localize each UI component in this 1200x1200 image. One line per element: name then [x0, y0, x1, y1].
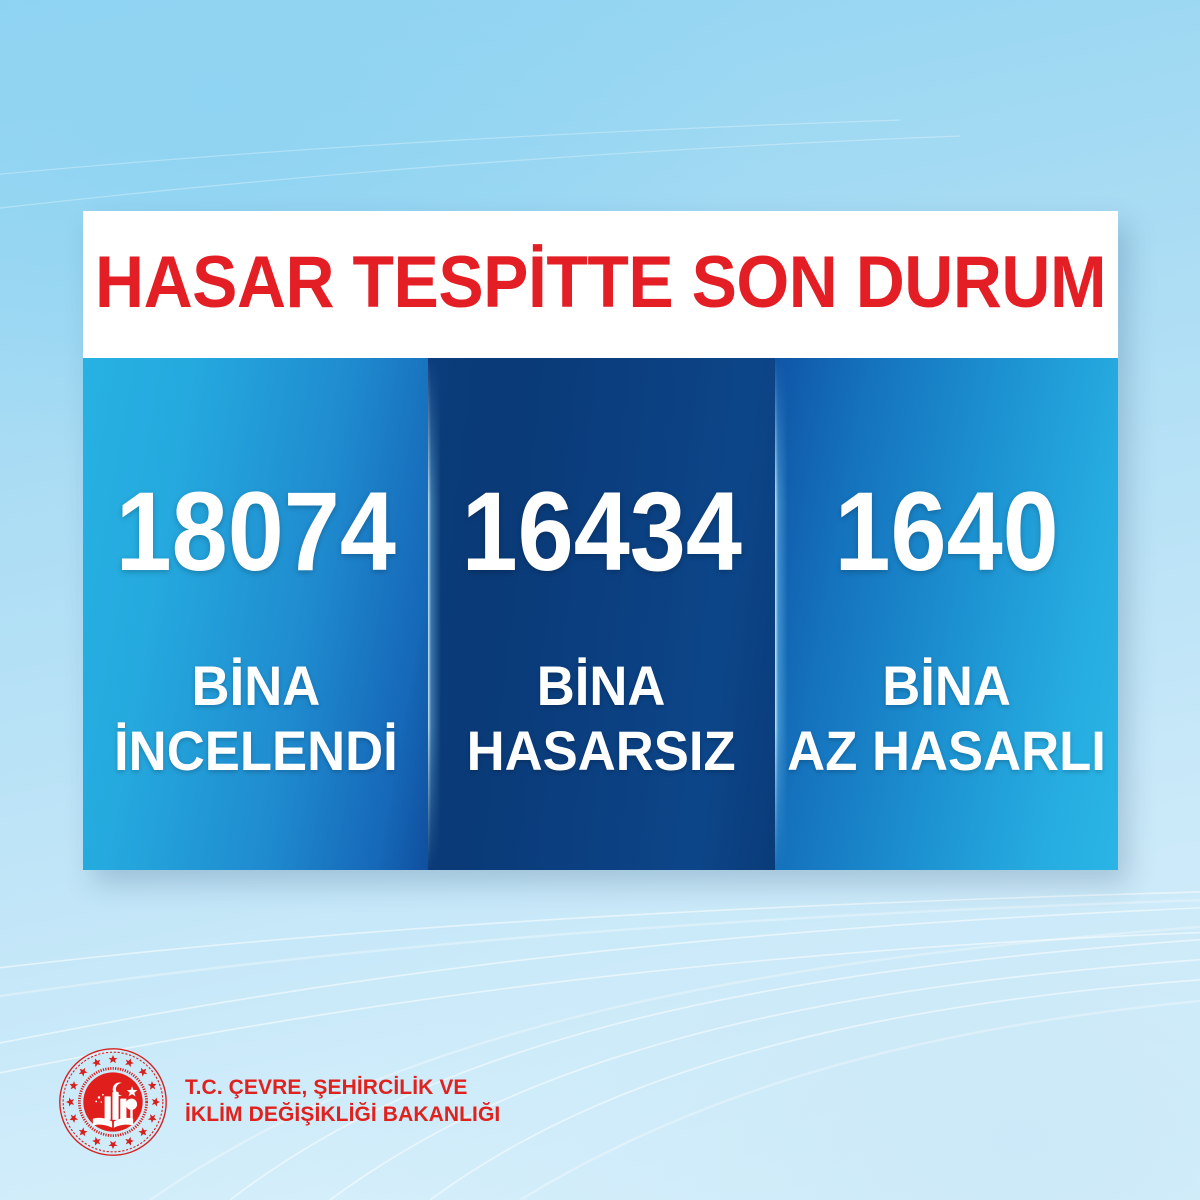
turkish-ministry-seal-icon: [57, 1046, 169, 1158]
stats-card: HASAR TESPİTTE SON DURUM 18074 BİNA İNCE…: [83, 211, 1118, 870]
stat-label: BİNA AZ HASARLI: [787, 654, 1106, 784]
stat-label: BİNA İNCELENDİ: [114, 654, 398, 784]
stat-label: BİNA HASARSIZ: [467, 654, 736, 784]
stat-panel-bina-incelendi: 18074 BİNA İNCELENDİ: [83, 358, 428, 870]
stat-value: 1640: [834, 476, 1058, 588]
stats-panel-group: 18074 BİNA İNCELENDİ 16434 BİNA HASARSIZ…: [83, 358, 1118, 870]
stat-value: 18074: [115, 476, 395, 588]
panel-divider-glow: [428, 358, 441, 870]
footer: T.C. ÇEVRE, ŞEHİRCİLİK VE İKLİM DEĞİŞİKL…: [57, 1046, 500, 1158]
stat-value: 16434: [461, 476, 741, 588]
page-title: HASAR TESPİTTE SON DURUM: [95, 246, 1106, 323]
panel-divider-glow: [775, 358, 788, 870]
stat-panel-bina-hasarsiz: 16434 BİNA HASARSIZ: [428, 358, 775, 870]
card-header: HASAR TESPİTTE SON DURUM: [83, 211, 1118, 358]
stat-panel-bina-az-hasarli: 1640 BİNA AZ HASARLI: [775, 358, 1118, 870]
footer-organization-name: T.C. ÇEVRE, ŞEHİRCİLİK VE İKLİM DEĞİŞİKL…: [185, 1075, 500, 1129]
